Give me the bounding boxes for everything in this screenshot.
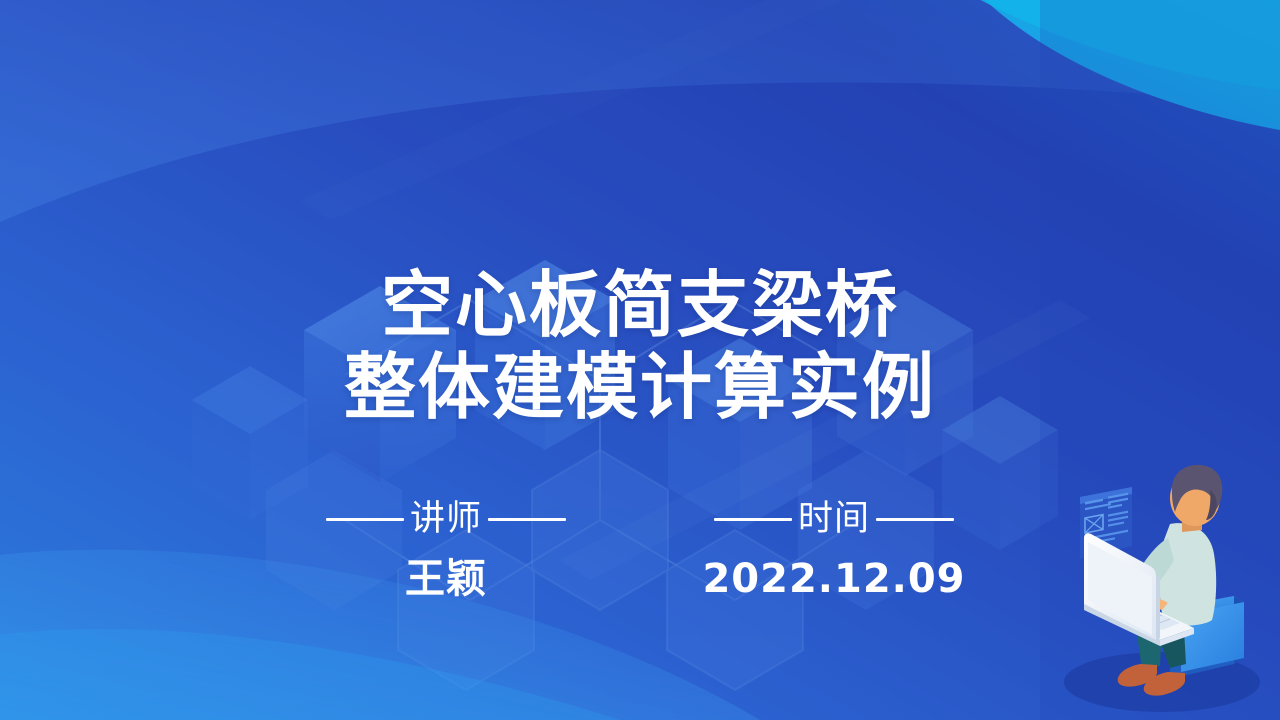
person-working-on-laptop-illustration [1044, 450, 1274, 720]
divider-rule-left [326, 518, 404, 521]
title-line-2: 整体建模计算实例 [0, 346, 1280, 428]
divider-rule-right [488, 518, 566, 521]
speaker-name: 王颖 [266, 551, 626, 607]
slide-meta-row: 讲师 王颖 时间 2022.12.09 [238, 497, 1048, 607]
page-title: 空心板简支梁桥 整体建模计算实例 [0, 264, 1280, 428]
title-line-1: 空心板简支梁桥 [0, 264, 1280, 346]
speaker-label-row: 讲师 [266, 497, 626, 541]
speaker-label: 讲师 [410, 497, 482, 541]
date-label: 时间 [798, 497, 870, 541]
date-block: 时间 2022.12.09 [654, 497, 1014, 607]
presentation-title-slide: 空心板简支梁桥 整体建模计算实例 讲师 王颖 时间 2022.12.09 [0, 0, 1280, 720]
date-value: 2022.12.09 [654, 551, 1014, 607]
date-label-row: 时间 [654, 497, 1014, 541]
divider-rule-right [876, 518, 954, 521]
divider-rule-left [714, 518, 792, 521]
speaker-block: 讲师 王颖 [266, 497, 626, 607]
